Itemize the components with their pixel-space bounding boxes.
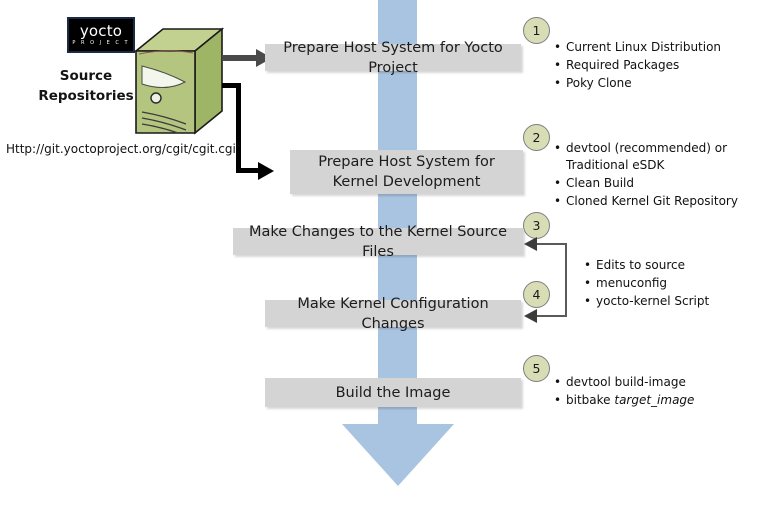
bitbake-target-italic: target_image — [614, 393, 694, 407]
list-item: Cloned Kernel Git Repository — [566, 193, 753, 210]
bracket-connector-vertical — [565, 243, 567, 317]
bracket-connector-arm-step4 — [535, 315, 567, 317]
yocto-logo-wordmark: yocto — [80, 24, 122, 39]
list-item: menuconfig — [596, 275, 709, 292]
workflow-diagram: yocto P R O J E C T Source Repositories … — [0, 0, 769, 517]
bracket-connector-arm-step3 — [535, 243, 567, 245]
yocto-logo-subtext: P R O J E C T — [72, 41, 129, 46]
repository-url: Http://git.yoctoproject.org/cgit/cgit.cg… — [6, 142, 236, 156]
list-item: Current Linux Distribution — [566, 39, 721, 56]
bullet-list-step-1: Current Linux Distribution Required Pack… — [553, 39, 721, 93]
yocto-project-logo: yocto P R O J E C T — [67, 17, 135, 53]
bullet-list-steps-3-4: Edits to source menuconfig yocto-kernel … — [583, 257, 709, 311]
list-item: Clean Build — [566, 175, 753, 192]
source-label-line1: Source — [26, 66, 146, 86]
step-badge-5: 5 — [523, 355, 550, 382]
process-box-prepare-host-kernel[interactable]: Prepare Host System for Kernel Developme… — [290, 150, 523, 194]
bracket-arrowhead-step4-icon — [524, 309, 537, 323]
process-box-build-the-image[interactable]: Build the Image — [265, 378, 521, 407]
list-item: Poky Clone — [566, 75, 721, 92]
step-badge-2: 2 — [523, 124, 550, 151]
source-repositories-label: Source Repositories — [26, 66, 146, 106]
list-item: Edits to source — [596, 257, 709, 274]
server-tower-icon — [133, 26, 225, 139]
bullet-list-step-5: devtool build-image bitbake target_image — [553, 374, 694, 410]
list-item: devtool (recommended) or Traditional eSD… — [566, 140, 753, 174]
process-box-make-kernel-config-changes[interactable]: Make Kernel Configuration Changes — [265, 300, 521, 327]
connector-arrowhead-step2-icon — [258, 162, 274, 180]
list-item: Required Packages — [566, 57, 721, 74]
list-item: devtool build-image — [566, 374, 694, 391]
bullet-list-step-2: devtool (recommended) or Traditional eSD… — [553, 140, 753, 211]
flow-arrowhead-icon — [342, 424, 454, 486]
list-item: yocto-kernel Script — [596, 293, 709, 310]
source-label-line2: Repositories — [26, 86, 146, 106]
bitbake-command: bitbake — [566, 393, 614, 407]
process-box-make-kernel-source-changes[interactable]: Make Changes to the Kernel Source Files — [233, 228, 523, 255]
step-badge-4: 4 — [523, 281, 550, 308]
list-item: bitbake target_image — [566, 392, 694, 409]
step-badge-3: 3 — [523, 212, 550, 239]
connector-server-to-step2-segment2 — [236, 83, 241, 173]
process-box-prepare-host-yocto[interactable]: Prepare Host System for Yocto Project — [265, 44, 521, 71]
step-badge-1: 1 — [523, 17, 550, 44]
bracket-arrowhead-step3-icon — [524, 237, 537, 251]
connector-server-to-step1 — [222, 55, 260, 61]
